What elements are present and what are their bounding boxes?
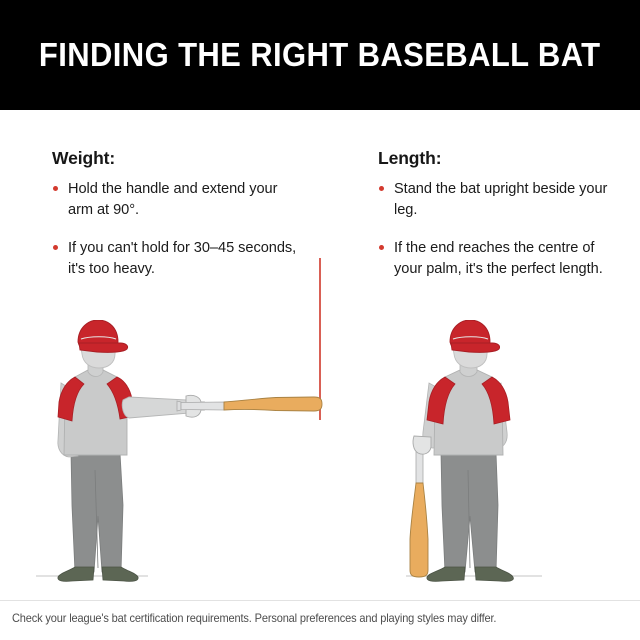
- page-title: FINDING THE RIGHT BASEBALL BAT: [39, 36, 601, 74]
- list-item: If you can't hold for 30–45 seconds, it'…: [52, 238, 302, 280]
- shoe-left: [427, 567, 465, 581]
- bat-handle: [181, 402, 224, 410]
- shoe-right: [102, 567, 138, 581]
- shoe-right: [475, 567, 513, 581]
- cap-brim: [451, 343, 500, 352]
- column-weight: Weight: Hold the handle and extend your …: [52, 110, 302, 296]
- column-heading-length: Length:: [378, 110, 623, 169]
- list-item: If the end reaches the centre of your pa…: [378, 238, 623, 280]
- header-bar: FINDING THE RIGHT BASEBALL BAT: [0, 0, 640, 110]
- infographic-canvas: FINDING THE RIGHT BASEBALL BAT Weight: H…: [0, 0, 640, 640]
- bat-barrel: [224, 397, 322, 411]
- weight-test-illustration: [28, 320, 348, 590]
- cap-crown: [78, 320, 118, 345]
- length-test-illustration: [392, 320, 592, 590]
- footer-note: Check your league's bat certification re…: [12, 612, 601, 625]
- bullet-list-weight: Hold the handle and extend your arm at 9…: [52, 179, 302, 279]
- bat-barrel: [410, 483, 428, 577]
- list-item: Hold the handle and extend your arm at 9…: [52, 179, 302, 221]
- illustration-area: [0, 320, 640, 600]
- footer-divider: [0, 600, 640, 601]
- shoe-left: [58, 567, 94, 581]
- bullet-list-length: Stand the bat upright beside your leg. I…: [378, 179, 623, 279]
- cap-crown: [450, 320, 490, 345]
- list-item: Stand the bat upright beside your leg.: [378, 179, 623, 221]
- cap-brim: [79, 343, 128, 352]
- hand-grip: [413, 436, 431, 454]
- column-length: Length: Stand the bat upright beside you…: [378, 110, 623, 296]
- bat-knob: [177, 401, 181, 411]
- pants: [71, 453, 123, 572]
- column-heading-weight: Weight:: [52, 110, 302, 169]
